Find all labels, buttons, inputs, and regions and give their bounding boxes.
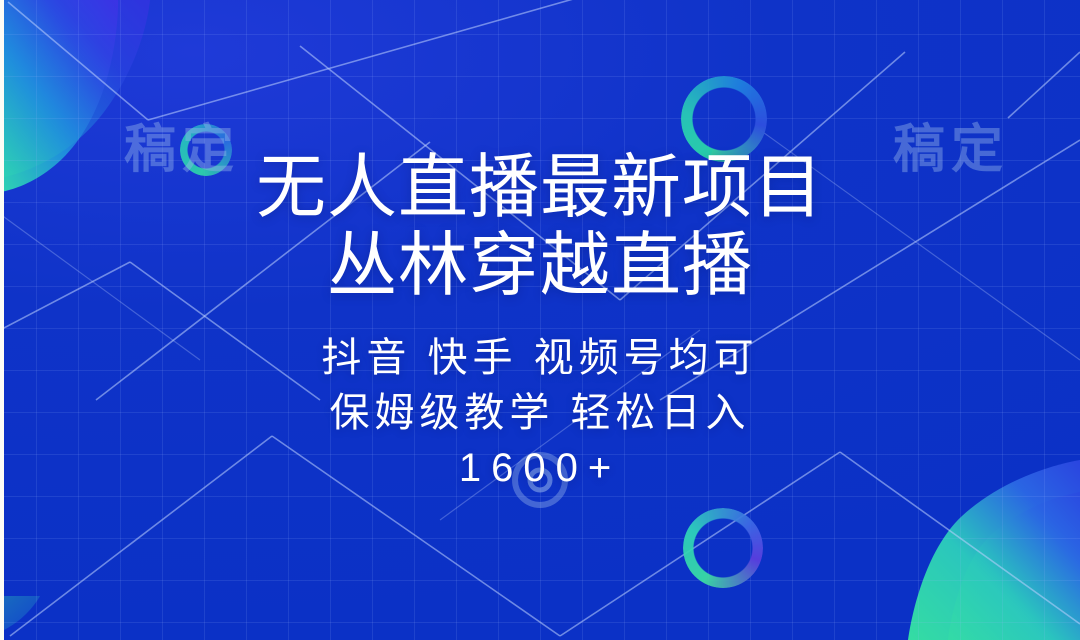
poster-canvas: 稿定 稿定 无人直播最新项目 丛林穿越直播 抖音 快手 视频号均可 保姆级教学 … — [0, 0, 1080, 640]
ring-bottom-icon — [683, 508, 763, 588]
left-edge-strip — [0, 0, 4, 640]
title-line-1: 无人直播最新项目 — [0, 148, 1080, 226]
subtitle-amount: 1600+ — [0, 441, 1080, 496]
poster-subtitle: 抖音 快手 视频号均可 保姆级教学 轻松日入 1600+ — [0, 305, 1080, 497]
title-line-2: 丛林穿越直播 — [0, 226, 1080, 304]
subtitle-line-2: 保姆级教学 轻松日入 — [0, 386, 1080, 441]
poster-text-block: 无人直播最新项目 丛林穿越直播 抖音 快手 视频号均可 保姆级教学 轻松日入 1… — [0, 0, 1080, 496]
poster-title: 无人直播最新项目 丛林穿越直播 — [0, 0, 1080, 305]
subtitle-line-1: 抖音 快手 视频号均可 — [0, 331, 1080, 386]
